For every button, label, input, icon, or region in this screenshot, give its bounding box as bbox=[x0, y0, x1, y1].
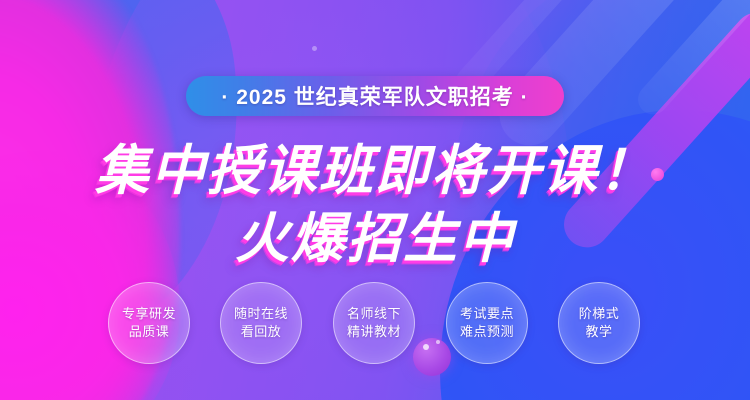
feature-badge[interactable]: 考试要点 难点预测 bbox=[446, 282, 528, 364]
feature-badge-line1: 阶梯式 bbox=[579, 305, 620, 323]
feature-badge[interactable]: 阶梯式 教学 bbox=[558, 282, 640, 364]
headline-secondary: 火爆招生中 bbox=[0, 194, 750, 273]
feature-badge-group: 专享研发 品质课 随时在线 看回放 名师线下 精讲教材 考试要点 难点预测 阶梯… bbox=[0, 282, 750, 366]
feature-badge-line2: 看回放 bbox=[241, 323, 282, 341]
feature-badge-line2: 教学 bbox=[585, 323, 612, 341]
feature-badge-line2: 品质课 bbox=[129, 323, 170, 341]
promo-banner: · 2025 世纪真荣军队文职招考 · 集中授课班即将开课！ 火爆招生中 专享研… bbox=[0, 0, 750, 400]
decorative-white-dot bbox=[312, 46, 317, 51]
subtitle-pill: · 2025 世纪真荣军队文职招考 · bbox=[186, 76, 564, 116]
feature-badge-line1: 名师线下 bbox=[347, 305, 401, 323]
feature-badge[interactable]: 专享研发 品质课 bbox=[108, 282, 190, 364]
feature-badge[interactable]: 名师线下 精讲教材 bbox=[333, 282, 415, 364]
background-streak-highlight bbox=[632, 0, 750, 120]
feature-badge[interactable]: 随时在线 看回放 bbox=[220, 282, 302, 364]
feature-badge-line1: 专享研发 bbox=[122, 305, 176, 323]
feature-badge-line1: 随时在线 bbox=[234, 305, 288, 323]
feature-badge-line2: 精讲教材 bbox=[347, 323, 401, 341]
feature-badge-line1: 考试要点 bbox=[460, 305, 514, 323]
subtitle-pill-label: · 2025 世纪真荣军队文职招考 · bbox=[221, 81, 528, 111]
feature-badge-line2: 难点预测 bbox=[460, 323, 514, 341]
